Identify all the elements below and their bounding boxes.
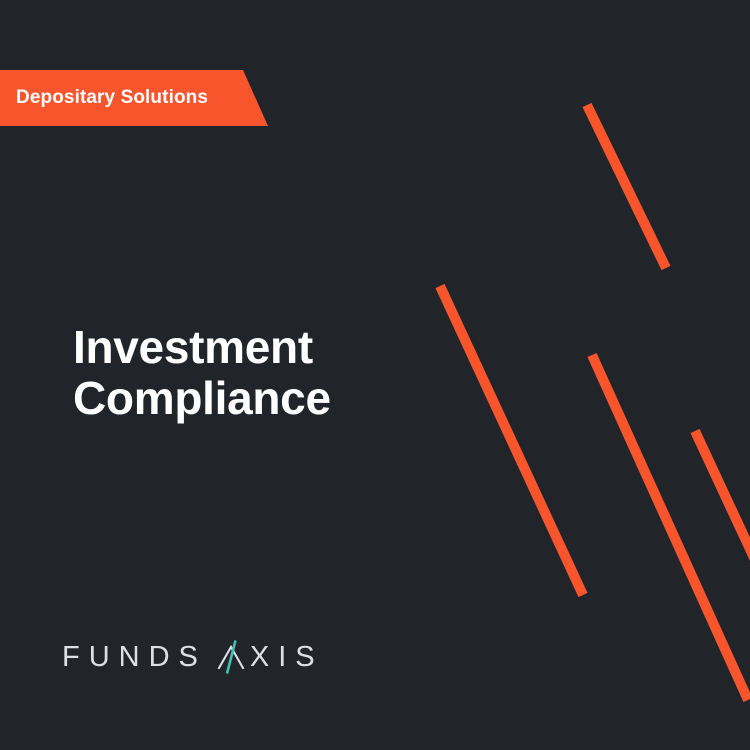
- page-title: Investment Compliance: [73, 322, 331, 424]
- category-ribbon-label: Depositary Solutions: [0, 87, 208, 109]
- stripe-4: [695, 431, 750, 575]
- category-ribbon: Depositary Solutions: [0, 70, 270, 126]
- page-title-line-2: Compliance: [73, 373, 331, 424]
- promo-card: Depositary Solutions Investment Complian…: [0, 0, 750, 750]
- stripe-3: [592, 355, 748, 700]
- brand-logo-word-funds: FUNDS: [62, 643, 207, 672]
- brand-logo-word-xis: XIS: [250, 643, 324, 672]
- brand-logo-axis-mark-icon: [214, 640, 248, 674]
- brand-logo: FUNDS XIS: [62, 634, 324, 680]
- stripe-2: [440, 286, 583, 595]
- stripe-1: [587, 105, 666, 268]
- page-title-line-1: Investment: [73, 322, 331, 373]
